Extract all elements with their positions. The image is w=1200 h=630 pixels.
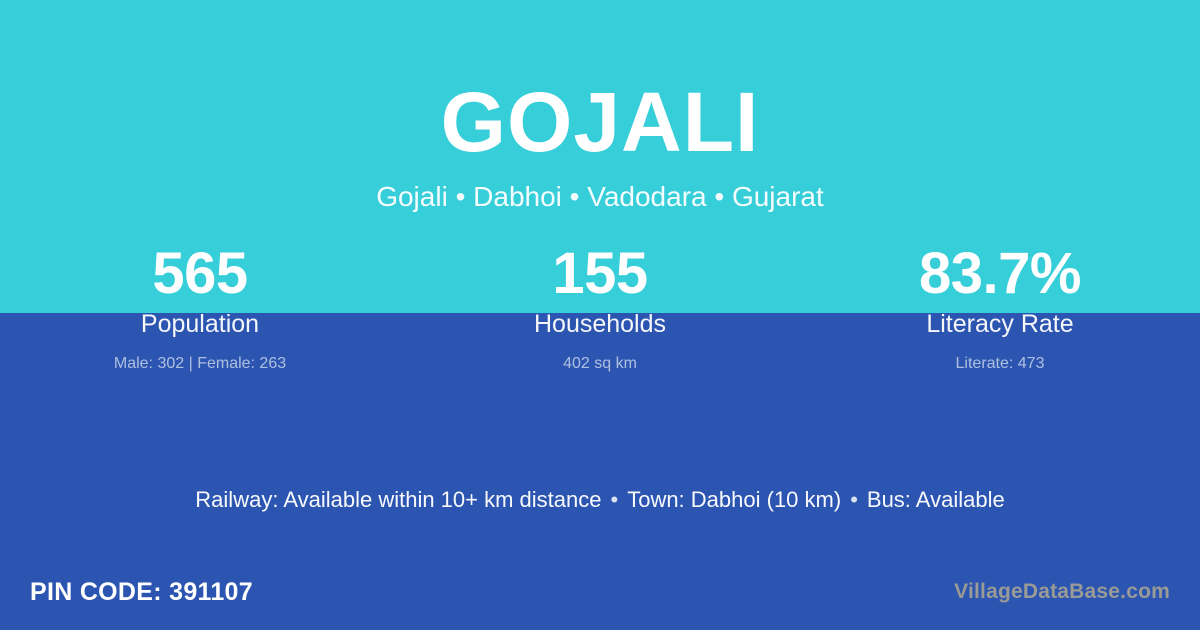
stat-sub-population: Male: 302 | Female: 263: [0, 354, 400, 373]
page-title: GOJALI: [0, 0, 1200, 164]
facility-bus: Bus: Available: [867, 487, 1005, 512]
stat-label-population: Population: [0, 310, 400, 340]
stat-literacy-rate: 83.7% Literacy Rate Literate: 473: [800, 240, 1200, 373]
facility-town: Town: Dabhoi (10 km): [627, 487, 841, 512]
facility-separator-1: •: [602, 487, 628, 512]
facility-separator-2: •: [841, 487, 867, 512]
village-info-card: GOJALI Gojali • Dabhoi • Vadodara • Guja…: [0, 0, 1200, 630]
stat-label-households: Households: [400, 310, 800, 340]
facilities-line: Railway: Available within 10+ km distanc…: [0, 486, 1200, 515]
stats-row: 565 Population Male: 302 | Female: 263 1…: [0, 240, 1200, 373]
stat-households: 155 Households 402 sq km: [400, 240, 800, 373]
stat-value-households: 155: [400, 240, 800, 307]
stat-label-literacy-rate: Literacy Rate: [800, 310, 1200, 340]
footer: PIN CODE: 391107 VillageDataBase.com: [0, 554, 1200, 630]
pin-code: PIN CODE: 391107: [30, 578, 253, 607]
stat-value-literacy-rate: 83.7%: [800, 240, 1200, 307]
stat-population: 565 Population Male: 302 | Female: 263: [0, 240, 400, 373]
stat-sub-literacy-rate: Literate: 473: [800, 354, 1200, 373]
breadcrumb: Gojali • Dabhoi • Vadodara • Gujarat: [0, 164, 1200, 213]
stat-sub-households: 402 sq km: [400, 354, 800, 373]
site-brand: VillageDataBase.com: [954, 580, 1170, 604]
facility-railway: Railway: Available within 10+ km distanc…: [195, 487, 601, 512]
stat-value-population: 565: [0, 240, 400, 307]
header-section: GOJALI Gojali • Dabhoi • Vadodara • Guja…: [0, 0, 1200, 213]
